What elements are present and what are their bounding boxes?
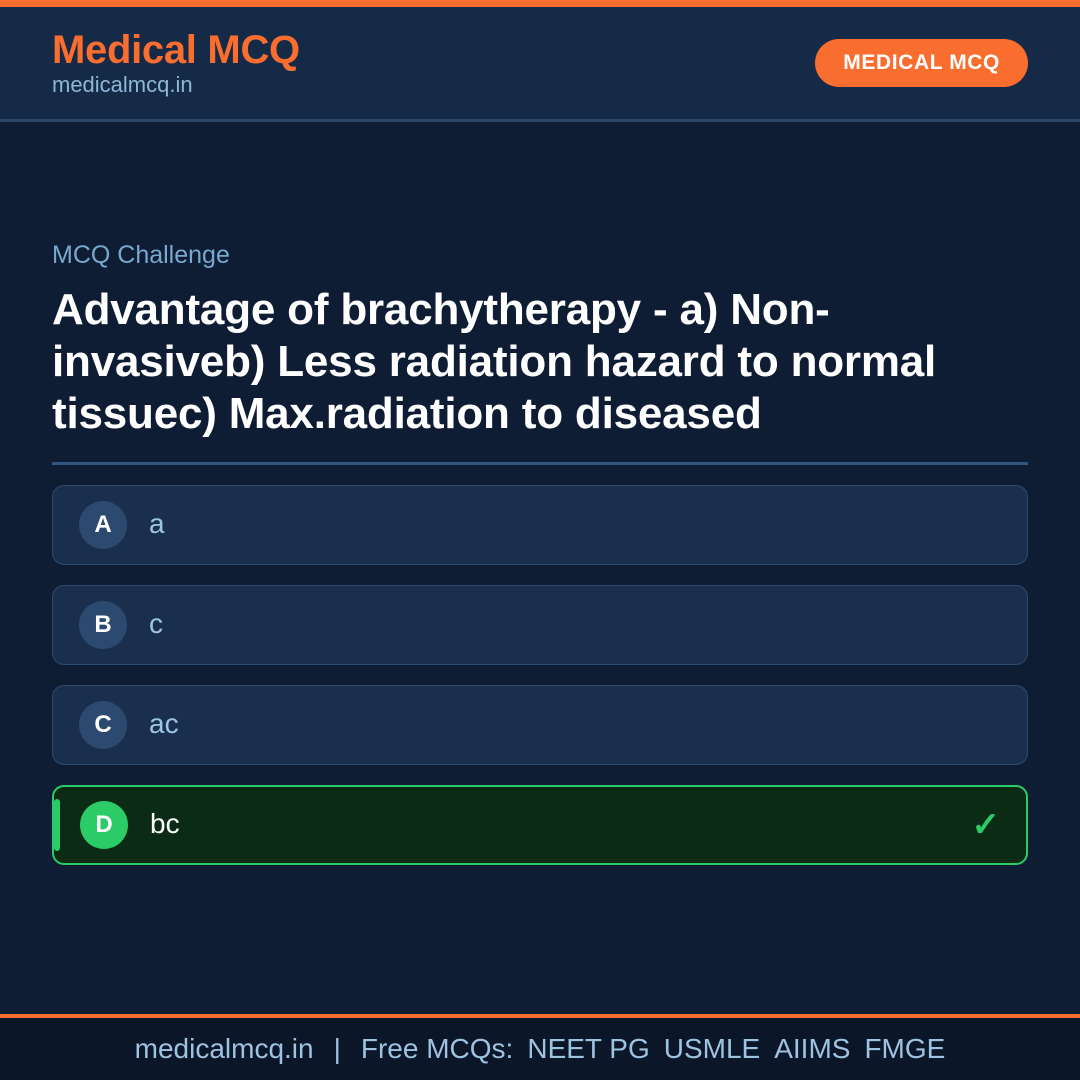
mcq-card: Medical MCQ medicalmcq.in MEDICAL MCQ MC…	[0, 0, 1080, 1080]
footer-exam-usmle: USMLE	[664, 1033, 760, 1065]
footer-exam-fmge: FMGE	[864, 1033, 945, 1065]
footer-inner: medicalmcq.in | Free MCQs: NEET PG USMLE…	[135, 1033, 946, 1065]
header: Medical MCQ medicalmcq.in MEDICAL MCQ	[0, 7, 1080, 122]
question-text: Advantage of brachytherapy - a) Non-inva…	[52, 284, 1012, 440]
options-list: A a B c C ac D bc ✓	[52, 485, 1028, 865]
top-accent-bar	[0, 0, 1080, 7]
footer-site: medicalmcq.in	[135, 1033, 314, 1065]
option-row-a[interactable]: A a	[52, 485, 1028, 565]
brand-title: Medical MCQ	[52, 29, 300, 71]
footer-separator: |	[328, 1033, 347, 1065]
option-label: ac	[149, 709, 1001, 740]
question-divider	[52, 462, 1028, 465]
option-row-b[interactable]: B c	[52, 585, 1028, 665]
option-letter-badge: B	[79, 601, 127, 649]
option-label: bc	[150, 809, 950, 840]
header-badge: MEDICAL MCQ	[815, 39, 1028, 87]
option-row-d-correct[interactable]: D bc ✓	[52, 785, 1028, 865]
footer-exams: NEET PG USMLE AIIMS FMGE	[527, 1033, 945, 1065]
main-content: MCQ Challenge Advantage of brachytherapy…	[0, 122, 1080, 1014]
brand-block: Medical MCQ medicalmcq.in	[52, 29, 300, 97]
footer: medicalmcq.in | Free MCQs: NEET PG USMLE…	[0, 1014, 1080, 1080]
option-row-c[interactable]: C ac	[52, 685, 1028, 765]
option-letter-badge: C	[79, 701, 127, 749]
footer-label: Free MCQs:	[361, 1033, 513, 1065]
option-label: a	[149, 509, 1001, 540]
option-label: c	[149, 609, 1001, 640]
footer-exam-aiims: AIIMS	[774, 1033, 850, 1065]
option-letter-badge: A	[79, 501, 127, 549]
footer-exam-neet-pg: NEET PG	[527, 1033, 649, 1065]
brand-subtitle: medicalmcq.in	[52, 73, 300, 97]
option-letter-badge: D	[80, 801, 128, 849]
section-kicker: MCQ Challenge	[52, 242, 1028, 270]
checkmark-icon: ✓	[972, 808, 1001, 842]
